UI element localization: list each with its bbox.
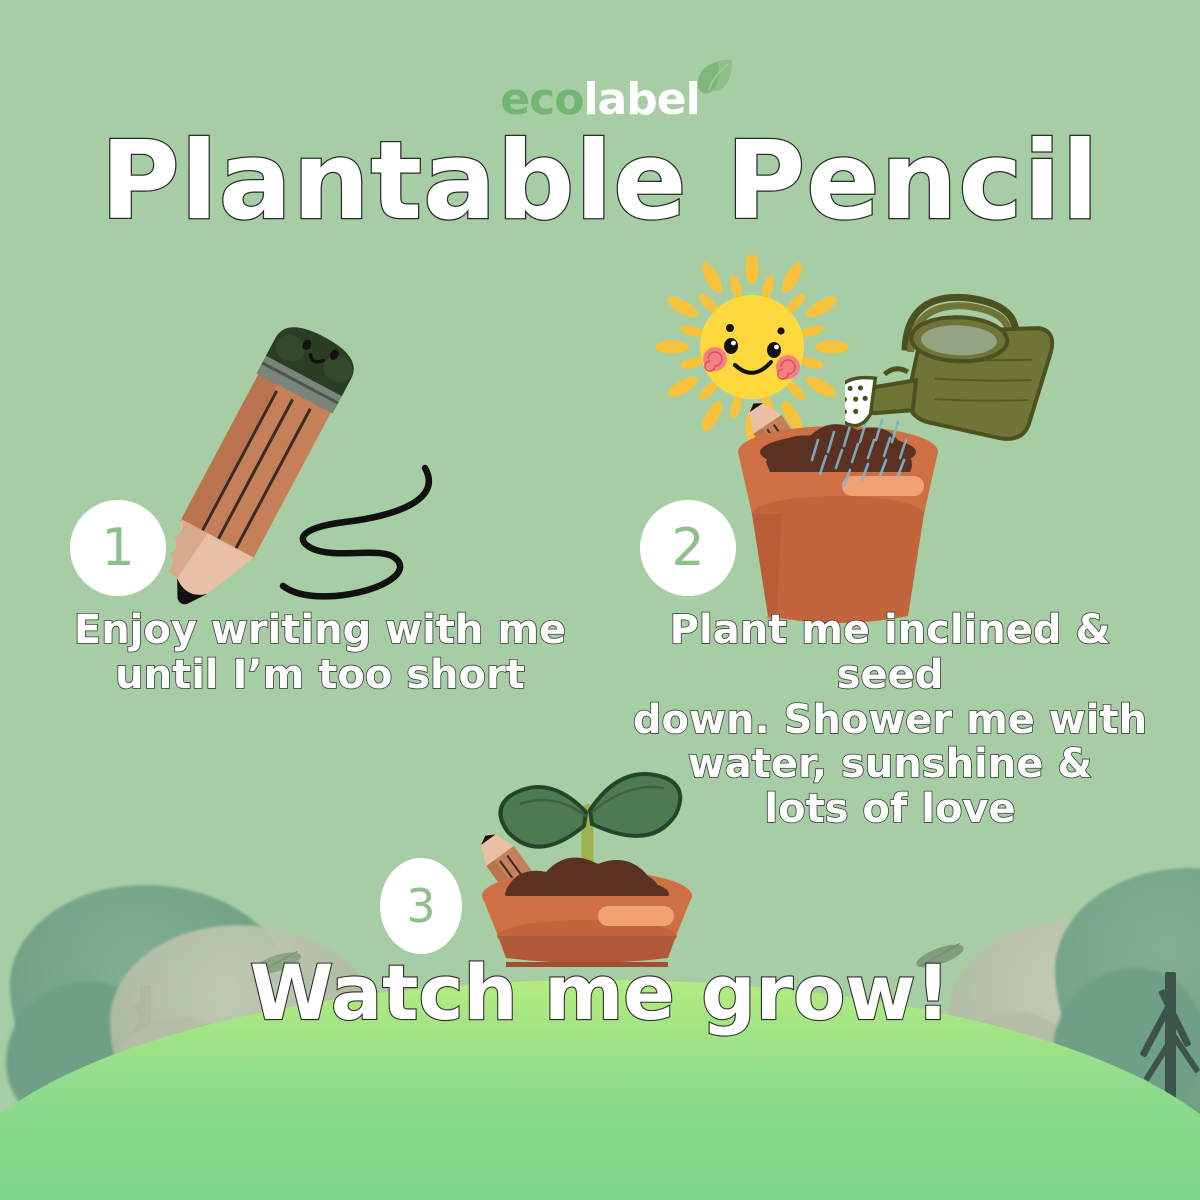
watering-can-illustration [845,272,1110,457]
step-number: 3 [406,879,435,933]
step-badge-1: 1 [70,500,166,596]
brand-logo-text: ecolabel [500,74,699,125]
step-number: 1 [101,518,134,578]
brand-name-label: label [583,74,699,125]
step-1-caption: Enjoy writing with me until I’m too shor… [40,608,600,698]
sun-cheek-right [776,355,800,379]
step-badge-3: 3 [380,858,462,954]
brand-name-eco: eco [500,74,583,125]
leaf-icon [688,58,734,100]
step-number: 2 [671,518,704,578]
caption-line: Plant me inclined & seed [612,608,1168,698]
step-badge-2: 2 [640,500,736,596]
page-title: Plantable Pencil [0,128,1200,236]
caption-line: until I’m too short [40,653,600,698]
sun-cheek-left [703,347,727,371]
sprout-pot-illustration [462,700,712,970]
infographic-poster: ecolabel Plantable Pencil [0,0,1200,1200]
caption-line: Enjoy writing with me [40,608,600,653]
step-3-caption: Watch me grow! [0,955,1200,1031]
